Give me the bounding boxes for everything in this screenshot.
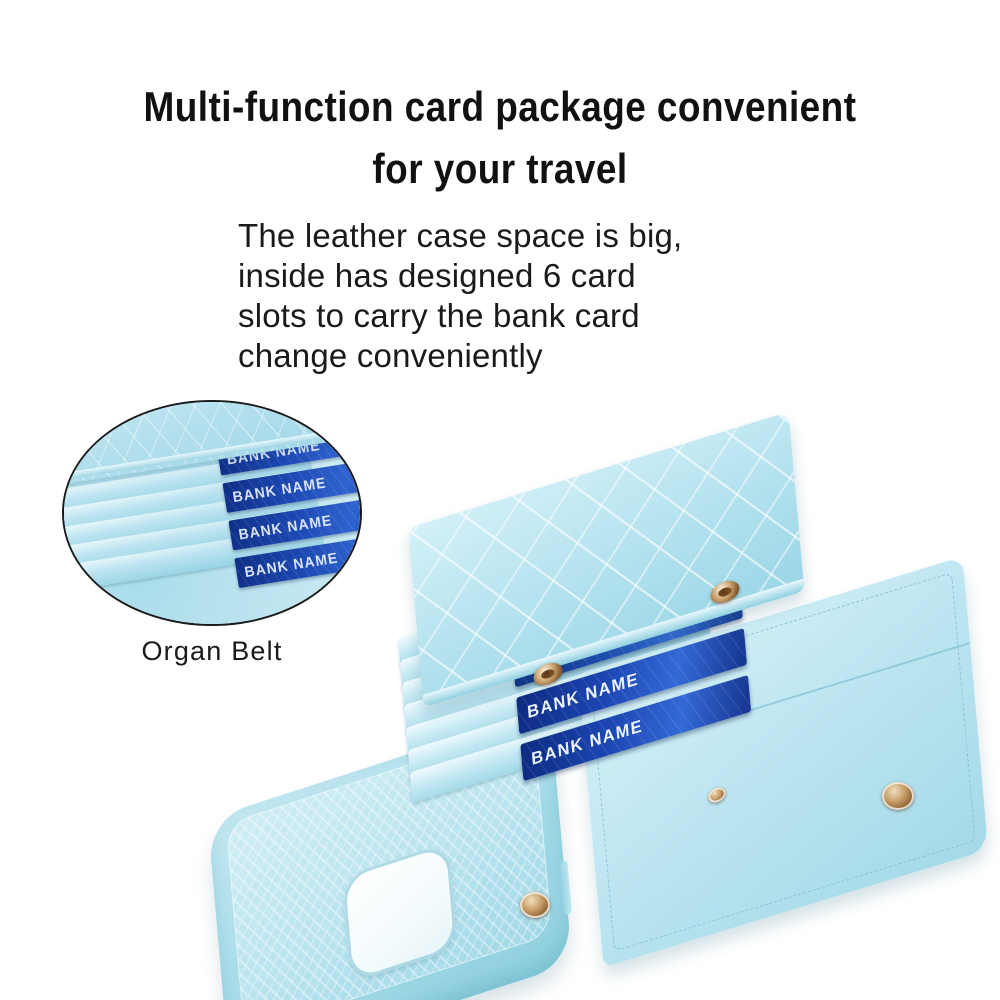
page-title-line-1: Multi-function card package convenient <box>60 76 940 138</box>
description-line-4: change conveniently <box>238 336 798 376</box>
page-title-line-2: for your travel <box>60 138 940 200</box>
snap-button-cover-bottom <box>520 892 550 918</box>
description-line-1: The leather case space is big, <box>238 216 798 256</box>
description-line-2: inside has designed 6 card <box>238 256 798 296</box>
description-line-3: slots to carry the bank card <box>238 296 798 336</box>
side-button-cutout <box>560 860 572 916</box>
snap-button-cover-right <box>882 782 914 810</box>
callout-bank-card-label: BANK NAME <box>231 474 327 505</box>
product-marketing-banner: Multi-function card package convenient f… <box>0 0 1000 1000</box>
page-title: Multi-function card package convenient f… <box>60 76 940 200</box>
product-photo: BANK NAME BANK NAME BANK NAME BANK NAME <box>190 520 980 990</box>
description-paragraph: The leather case space is big, inside ha… <box>238 216 798 376</box>
